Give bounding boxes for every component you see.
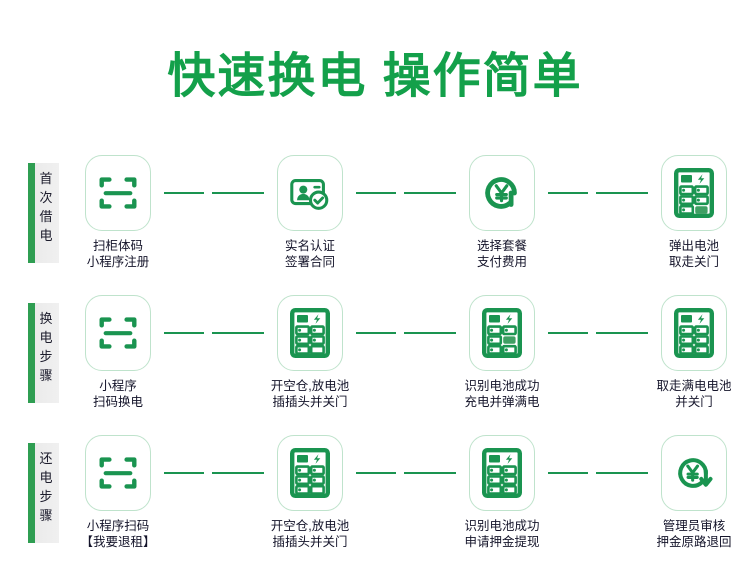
step-caption: 选择套餐 支付费用	[477, 238, 527, 270]
id-verify-icon	[287, 170, 333, 216]
step-tile[interactable]	[85, 435, 151, 511]
section-rows: 首 次 借 电	[0, 155, 750, 575]
step-tile[interactable]	[469, 435, 535, 511]
caption-line-2: 充电并弹满电	[464, 394, 539, 410]
step-item[interactable]: 取走满电电池 并关门	[648, 295, 740, 410]
caption-line-1: 识别电池成功	[464, 378, 539, 394]
step-connector	[356, 295, 456, 371]
step-tile[interactable]	[661, 155, 727, 231]
step-tile[interactable]	[661, 435, 727, 511]
caption-line-1: 弹出电池	[669, 238, 719, 254]
step-caption: 管理员审核 押金原路退回	[656, 518, 731, 550]
connector-dash	[356, 332, 456, 334]
caption-line-1: 选择套餐	[477, 238, 527, 254]
page-title: 快速换电 操作简单	[0, 36, 750, 106]
cabinet-full-icon	[672, 308, 716, 358]
caption-line-1: 管理员审核	[656, 518, 731, 534]
connector-dash	[164, 192, 264, 194]
step-caption: 小程序扫码 【我要退租】	[80, 518, 155, 550]
caption-line-2: 申请押金提现	[464, 534, 539, 550]
cabinet-full-icon	[480, 448, 524, 498]
step-track: 小程序扫码 【我要退租】	[72, 435, 740, 565]
caption-line-2: 签署合同	[285, 254, 335, 270]
section-label-char: 次	[35, 188, 57, 207]
section-label-swap-battery: 换 电 步 骤	[28, 303, 59, 403]
step-caption: 实名认证 签署合同	[285, 238, 335, 270]
step-item[interactable]: 小程序 扫码换电	[72, 295, 164, 410]
caption-line-1: 小程序	[93, 378, 143, 394]
caption-line-2: 并关门	[656, 394, 731, 410]
step-item[interactable]: 开空仓,放电池 插插头并关门	[264, 295, 356, 410]
cabinet-empty-icon	[288, 448, 332, 498]
step-connector	[548, 155, 648, 231]
section-label-char: 换	[35, 309, 57, 328]
step-caption: 识别电池成功 申请押金提现	[464, 518, 539, 550]
caption-line-1: 小程序扫码	[80, 518, 155, 534]
caption-line-1: 实名认证	[285, 238, 335, 254]
caption-line-2: 插插头并关门	[271, 534, 349, 550]
step-caption: 扫柜体码 小程序注册	[87, 238, 150, 270]
cabinet-charging-icon	[480, 308, 524, 358]
cabinet-open-door-icon	[672, 168, 716, 218]
step-connector	[164, 435, 264, 511]
step-tile[interactable]	[277, 435, 343, 511]
step-track: 小程序 扫码换电	[72, 295, 740, 425]
connector-dash	[164, 472, 264, 474]
step-caption: 开空仓,放电池 插插头并关门	[271, 378, 349, 410]
section-label-char: 首	[35, 169, 57, 188]
step-connector	[548, 295, 648, 371]
step-item[interactable]: 识别电池成功 充电并弹满电	[456, 295, 548, 410]
section-label-char: 电	[35, 226, 57, 245]
step-item[interactable]: 小程序扫码 【我要退租】	[72, 435, 164, 550]
section-label-char: 骤	[35, 506, 57, 525]
connector-dash	[356, 192, 456, 194]
step-caption: 小程序 扫码换电	[93, 378, 143, 410]
cabinet-empty-icon	[288, 308, 332, 358]
step-tile[interactable]	[661, 295, 727, 371]
caption-line-1: 开空仓,放电池	[271, 378, 349, 394]
step-tile[interactable]	[85, 295, 151, 371]
caption-line-1: 取走满电电池	[656, 378, 731, 394]
step-item[interactable]: 管理员审核 押金原路退回	[648, 435, 740, 550]
step-connector	[164, 295, 264, 371]
caption-line-1: 扫柜体码	[87, 238, 150, 254]
step-item[interactable]: 识别电池成功 申请押金提现	[456, 435, 548, 550]
scan-code-icon	[95, 170, 141, 216]
caption-line-2: 【我要退租】	[80, 534, 155, 550]
step-tile[interactable]	[469, 295, 535, 371]
step-item[interactable]: 扫柜体码 小程序注册	[72, 155, 164, 270]
section-label-char: 电	[35, 328, 57, 347]
caption-line-2: 插插头并关门	[271, 394, 349, 410]
step-connector	[164, 155, 264, 231]
step-tile[interactable]	[277, 295, 343, 371]
section-label-char: 步	[35, 487, 57, 506]
section-label-first-use: 首 次 借 电	[28, 163, 59, 263]
section-label-return-battery: 还 电 步 骤	[28, 443, 59, 543]
section-label-char: 骤	[35, 366, 57, 385]
step-caption: 识别电池成功 充电并弹满电	[464, 378, 539, 410]
caption-line-2: 取走关门	[669, 254, 719, 270]
caption-line-2: 支付费用	[477, 254, 527, 270]
step-item[interactable]: 实名认证 签署合同	[264, 155, 356, 270]
step-item[interactable]: 开空仓,放电池 插插头并关门	[264, 435, 356, 550]
scan-code-icon	[95, 450, 141, 496]
step-caption: 取走满电电池 并关门	[656, 378, 731, 410]
scan-code-icon	[95, 310, 141, 356]
step-connector	[356, 435, 456, 511]
payment-yuan-icon	[479, 170, 525, 216]
connector-dash	[548, 192, 648, 194]
step-tile[interactable]	[85, 155, 151, 231]
section-row-first-use: 首 次 借 电	[0, 155, 750, 295]
connector-dash	[356, 472, 456, 474]
step-item[interactable]: 选择套餐 支付费用	[456, 155, 548, 270]
step-tile[interactable]	[277, 155, 343, 231]
infographic-page: 快速换电 操作简单 首 次 借 电	[0, 0, 750, 580]
connector-dash	[164, 332, 264, 334]
step-connector	[356, 155, 456, 231]
caption-line-2: 押金原路退回	[656, 534, 731, 550]
section-row-return-battery: 还 电 步 骤	[0, 435, 750, 575]
step-item[interactable]: 弹出电池 取走关门	[648, 155, 740, 270]
connector-dash	[548, 332, 648, 334]
section-label-char: 电	[35, 468, 57, 487]
caption-line-2: 扫码换电	[93, 394, 143, 410]
section-row-swap-battery: 换 电 步 骤	[0, 295, 750, 435]
step-caption: 弹出电池 取走关门	[669, 238, 719, 270]
section-label-char: 还	[35, 449, 57, 468]
step-tile[interactable]	[469, 155, 535, 231]
section-label-char: 借	[35, 207, 57, 226]
caption-line-1: 识别电池成功	[464, 518, 539, 534]
caption-line-2: 小程序注册	[87, 254, 150, 270]
step-connector	[548, 435, 648, 511]
step-caption: 开空仓,放电池 插插头并关门	[271, 518, 349, 550]
section-label-char: 步	[35, 347, 57, 366]
caption-line-1: 开空仓,放电池	[271, 518, 349, 534]
refund-yuan-icon	[671, 450, 717, 496]
step-track: 扫柜体码 小程序注册	[72, 155, 740, 285]
connector-dash	[548, 472, 648, 474]
